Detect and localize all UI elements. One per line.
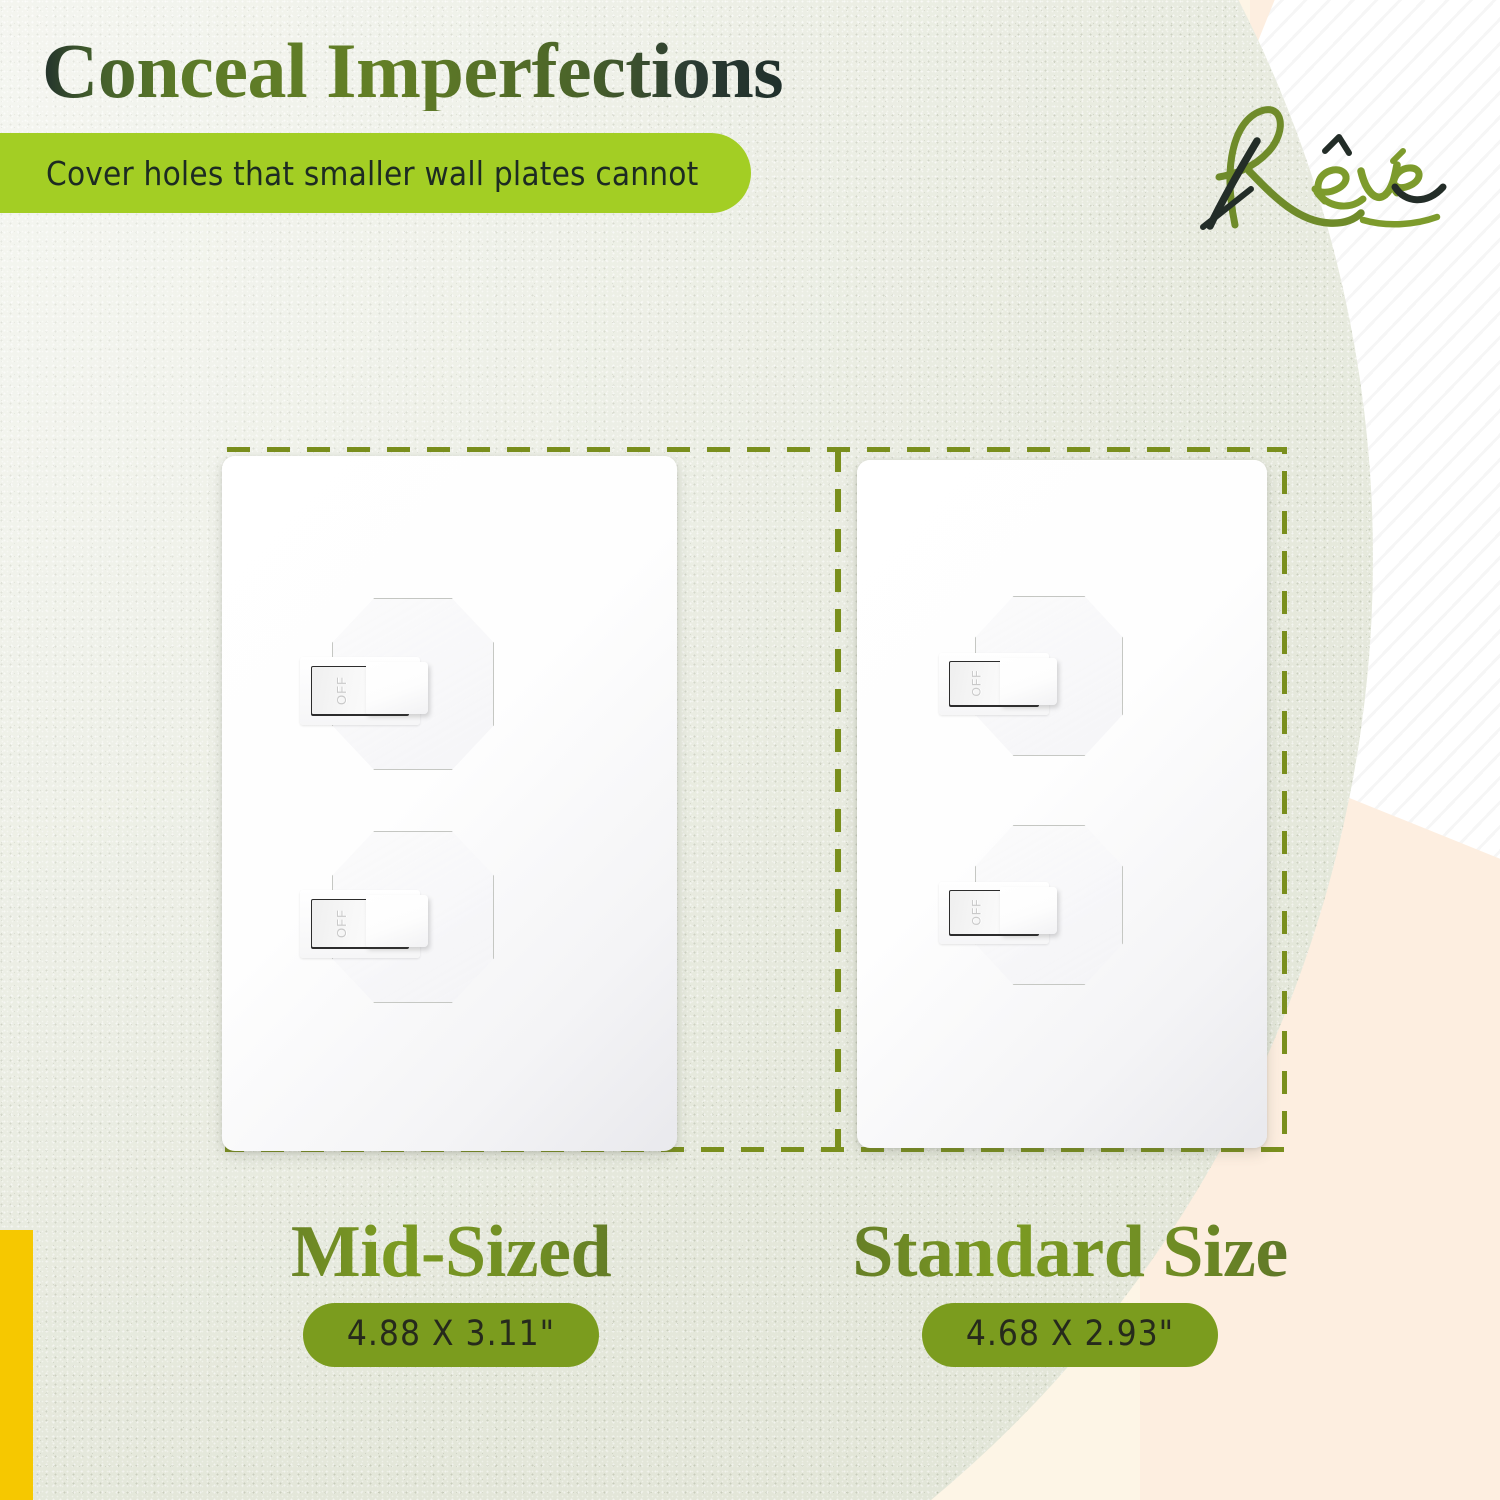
toggle-switch-top[interactable]: OFF [300, 657, 420, 725]
switch-off-label: OFF [335, 676, 348, 705]
subtitle-text: Cover holes that smaller wall plates can… [46, 154, 699, 193]
size-label-standard-size: Standard Size 4.68 X 2.93" [770, 1215, 1370, 1367]
size-dimensions-badge: 4.88 X 3.11" [303, 1303, 599, 1367]
size-label-mid-sized: Mid-Sized 4.88 X 3.11" [196, 1215, 706, 1367]
size-dimensions-badge: 4.68 X 2.93" [922, 1303, 1218, 1367]
rocker-raised-paddle[interactable] [366, 662, 428, 714]
size-name: Mid-Sized [196, 1215, 706, 1289]
toggle-switch-bottom[interactable]: OFF [300, 890, 420, 958]
toggle-switch-bottom[interactable]: OFF [939, 882, 1049, 944]
rocker-off-face: OFF [312, 667, 371, 715]
rocker-off-face: OFF [312, 900, 371, 948]
rocker-raised-paddle[interactable] [366, 895, 428, 947]
switch-off-label: OFF [971, 899, 983, 926]
rocker-off-face: OFF [950, 662, 1004, 705]
rocker-off-face: OFF [950, 891, 1004, 934]
page-title: Conceal Imperfections [42, 30, 783, 111]
rocker-raised-paddle[interactable] [1000, 887, 1057, 934]
toggle-switch-top[interactable]: OFF [939, 653, 1049, 715]
logo-wordmark-text: Rêve [1165, 246, 1166, 247]
brand-logo: Rêve [1165, 75, 1475, 250]
size-name: Standard Size [770, 1215, 1370, 1289]
wall-plate-mid-sized[interactable]: OFF OFF [222, 456, 677, 1151]
gold-left-stripe [0, 1230, 33, 1500]
switch-off-label: OFF [971, 670, 983, 697]
rocker-raised-paddle[interactable] [1000, 658, 1057, 705]
product-infographic: Conceal Imperfections Cover holes that s… [0, 0, 1500, 1500]
switch-off-label: OFF [335, 909, 348, 938]
subtitle-banner: Cover holes that smaller wall plates can… [0, 133, 751, 213]
wall-plate-standard-size[interactable]: OFF OFF [857, 460, 1267, 1148]
